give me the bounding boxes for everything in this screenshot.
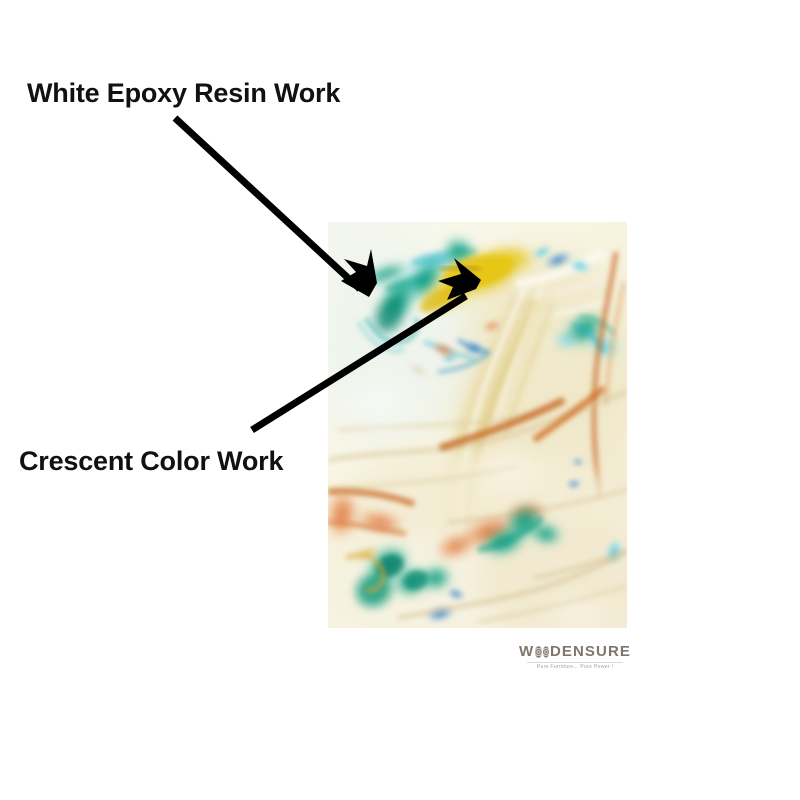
epoxy-resin-artwork: [328, 222, 627, 628]
logo-letters-densure: DENSURE: [550, 644, 631, 659]
annotation-label-crescent-color-work: Crescent Color Work: [19, 447, 283, 477]
annotation-label-white-epoxy-resin-work: White Epoxy Resin Work: [27, 79, 340, 109]
logo-letter-w: W: [519, 644, 534, 659]
screenshot-canvas: White Epoxy Resin Work Crescent Color Wo…: [0, 0, 800, 800]
woodensure-logo: W DENSURE Pure Furniture... Pure Power !: [519, 644, 631, 670]
logo-divider: [527, 662, 623, 663]
logo-tagline: Pure Furniture... Pure Power !: [519, 665, 631, 670]
wood-ring-icon-1: [535, 646, 542, 658]
logo-wordmark: W DENSURE: [519, 644, 631, 659]
wood-ring-icon-2: [543, 646, 550, 658]
product-photo-epoxy-resin: [328, 222, 627, 628]
